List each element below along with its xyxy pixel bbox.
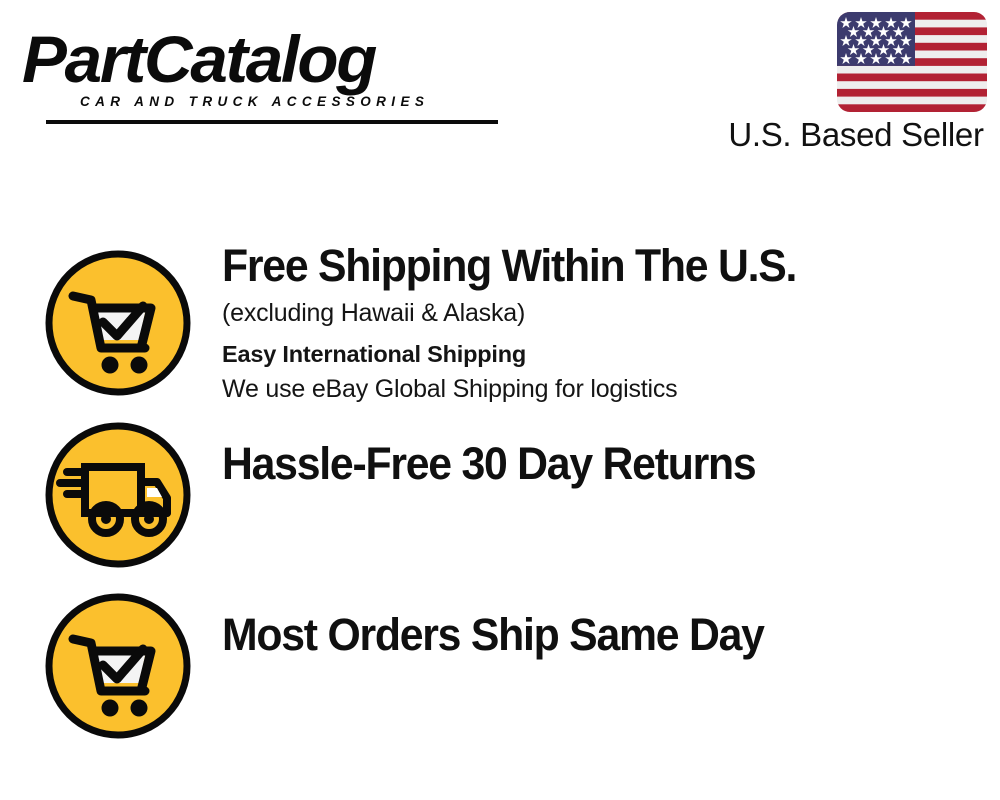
us-flag-icon [837,12,987,112]
shopping-cart-check-icon [43,248,193,398]
benefit-headline: Most Orders Ship Same Day [222,609,925,661]
logo-underline-rule [46,120,498,124]
benefit-subline-international-title: Easy International Shipping [222,338,962,371]
us-based-seller-label: U.S. Based Seller [723,116,989,154]
benefit-headline: Hassle-Free 30 Day Returns [222,438,925,490]
benefit-text-same-day: Most Orders Ship Same Day [222,583,962,661]
page-header: PartCatalog CAR AND TRUCK ACCESSORIES [0,0,1000,175]
benefit-text-returns: Hassle-Free 30 Day Returns [222,412,962,490]
delivery-truck-icon [43,420,193,570]
benefit-row-same-day-shipping: Most Orders Ship Same Day [0,583,1000,751]
brand-logo[interactable]: PartCatalog CAR AND TRUCK ACCESSORIES [22,24,492,119]
benefit-headline: Free Shipping Within The U.S. [222,240,925,292]
benefit-text-free-shipping: Free Shipping Within The U.S. (excluding… [222,240,962,406]
shopping-cart-check-icon [43,591,193,741]
benefit-row-returns: Hassle-Free 30 Day Returns [0,412,1000,580]
benefit-subline-international-detail: We use eBay Global Shipping for logistic… [222,372,962,406]
logo-tagline: CAR AND TRUCK ACCESSORIES [80,94,429,109]
benefit-subline-exclusions: (excluding Hawaii & Alaska) [222,296,962,330]
benefit-row-free-shipping: Free Shipping Within The U.S. (excluding… [0,240,1000,408]
logo-wordmark: PartCatalog [22,24,501,94]
